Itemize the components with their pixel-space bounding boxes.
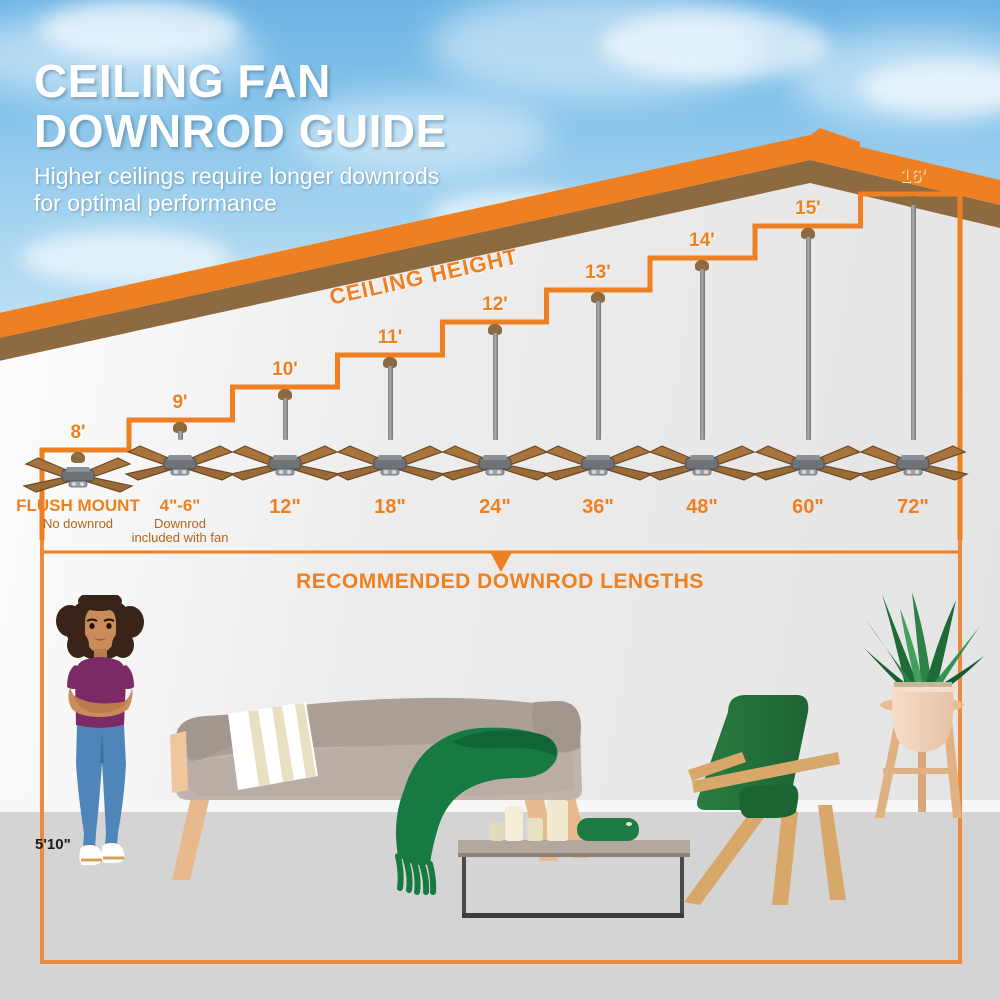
green-bowl — [577, 818, 639, 841]
coffee-table — [458, 840, 690, 918]
striped-pillow — [228, 702, 318, 790]
person-height-label: 5'10" — [35, 836, 71, 853]
green-lounge-chair — [684, 695, 846, 905]
potted-aloe-plant — [864, 592, 984, 752]
infographic-canvas: CEILING FAN DOWNROD GUIDE Higher ceiling… — [0, 0, 1000, 1000]
